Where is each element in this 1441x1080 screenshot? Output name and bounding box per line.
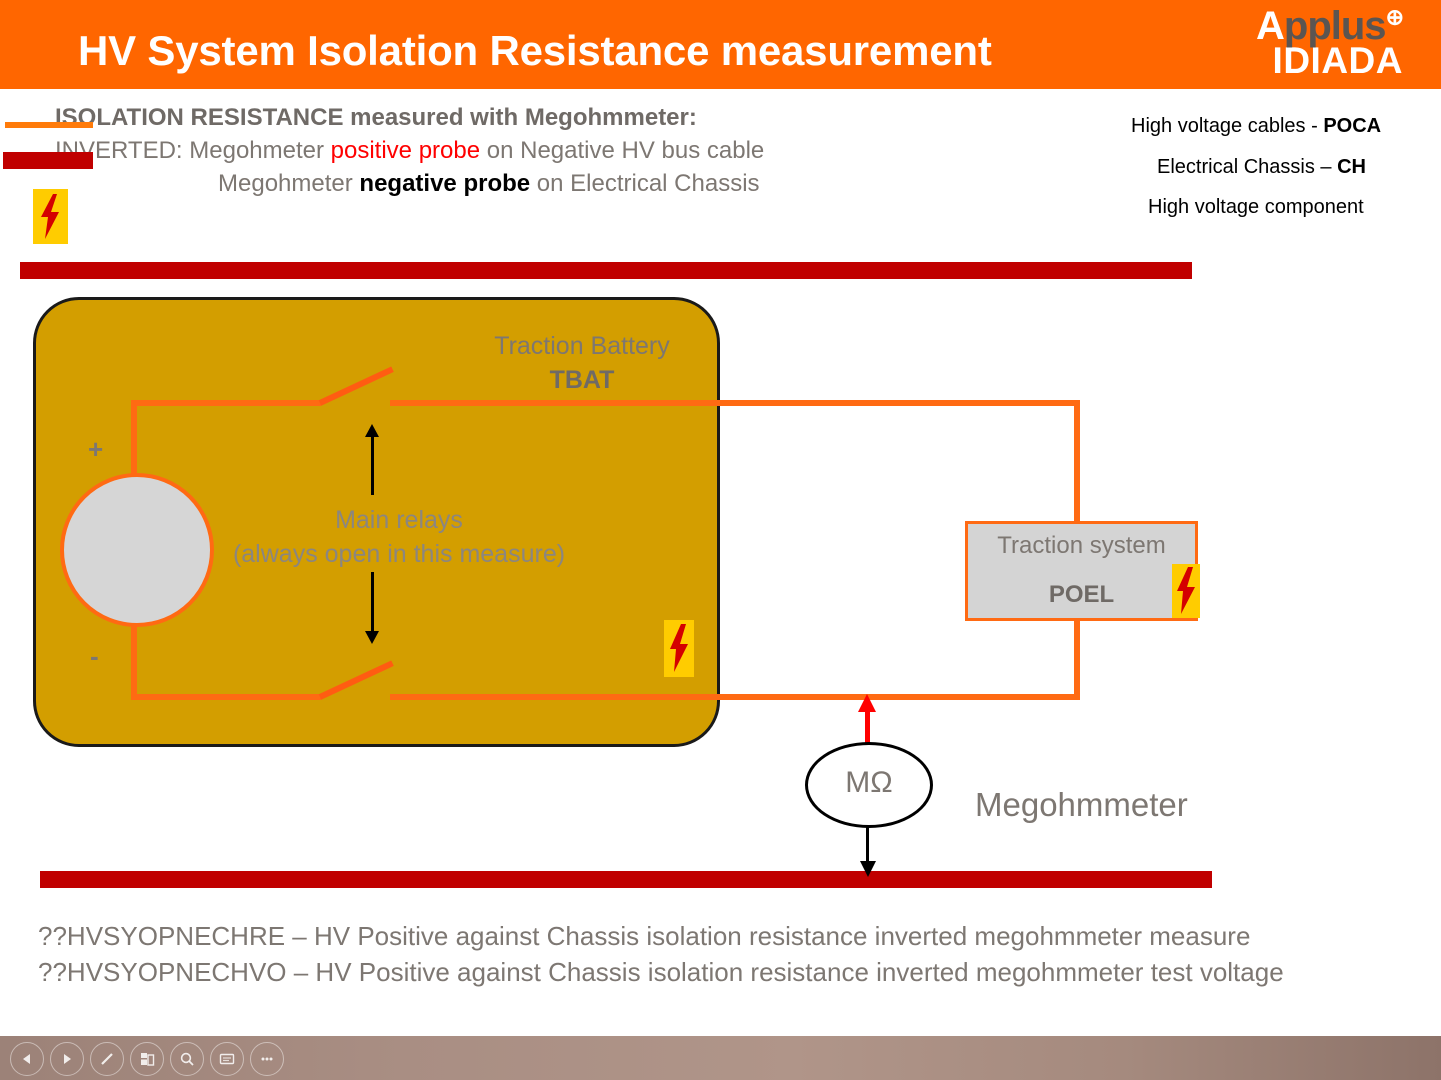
legend-high-voltage-icon (33, 189, 68, 244)
logo-plus-icon: ⊕ (1386, 5, 1403, 30)
legend-label-hv-cable-code: POCA (1323, 115, 1381, 137)
chassis-bar-bottom (40, 871, 1212, 888)
wire-positive-top-horizontal (131, 400, 321, 406)
wire-positive-out-horizontal (390, 400, 1080, 406)
logo-letter-a: A (1256, 4, 1284, 48)
legend-label-hv-cable: High voltage cables - POCA (1131, 115, 1381, 138)
battery-cell-circle (60, 473, 214, 627)
footnote-line-2: ??HVSYOPNECHVO – HV Positive against Cha… (38, 954, 1418, 990)
triangle-left-icon (20, 1052, 34, 1066)
chassis-bar-top (20, 262, 1192, 279)
legend-label-hv-cable-text: High voltage cables - (1131, 115, 1323, 137)
relay-arrow-down-head (365, 631, 379, 644)
logo-applus-text: Applus⊕ (1256, 6, 1403, 46)
intro-line-2-highlight: positive probe (331, 137, 480, 164)
wire-negative-bottom-horizontal (131, 694, 321, 700)
main-relays-label: Main relays (always open in this measure… (232, 503, 566, 571)
intro-line-3: Megohmeter negative probe on Electrical … (55, 167, 955, 200)
intro-line-2: INVERTED: Megohmeter positive probe on N… (55, 134, 955, 167)
pen-icon (99, 1051, 115, 1067)
page-title: HV System Isolation Resistance measureme… (78, 27, 992, 75)
applus-idiada-logo: Applus⊕ IDIADA (1228, 6, 1403, 84)
traction-battery-code: TBAT (482, 366, 682, 395)
megohmmeter-positive-probe-shaft (865, 710, 870, 745)
megohmmeter-label: Megohmmeter (975, 786, 1188, 824)
traction-system-high-voltage-icon (1172, 564, 1200, 618)
intro-line-3-post: on Electrical Chassis (530, 170, 759, 197)
footnote-line-1: ??HVSYOPNECHRE – HV Positive against Cha… (38, 918, 1418, 954)
traction-battery-title: Traction Battery (482, 332, 682, 361)
legend-swatch-hv-cable (5, 122, 93, 128)
legend-label-chassis-text: Electrical Chassis – (1157, 156, 1337, 178)
battery-negative-terminal-label: - (90, 641, 99, 672)
legend-label-chassis: Electrical Chassis – CH (1157, 156, 1366, 179)
wire-negative-vertical (131, 625, 137, 697)
logo-text-rest: pplus (1284, 4, 1386, 48)
slides-icon (139, 1051, 155, 1067)
battery-high-voltage-icon (664, 620, 694, 677)
relay-arrow-up-shaft (371, 433, 374, 495)
intro-line-1: ISOLATION RESISTANCE measured with Megoh… (55, 101, 955, 134)
megohmmeter-positive-probe-head (858, 694, 876, 712)
main-relays-label-line2: (always open in this measure) (232, 537, 566, 571)
slides-overview-button[interactable] (130, 1042, 164, 1076)
ellipsis-icon (259, 1051, 275, 1067)
megohmmeter-symbol: MΩ (805, 766, 933, 800)
wire-hv-right-vertical-top (1074, 400, 1080, 528)
legend-swatch-chassis (3, 152, 93, 169)
main-relays-label-line1: Main relays (232, 503, 566, 537)
more-options-button[interactable] (250, 1042, 284, 1076)
legend-label-chassis-code: CH (1337, 156, 1366, 178)
triangle-right-icon (60, 1052, 74, 1066)
wire-hv-right-vertical-bottom (1074, 614, 1080, 700)
toolbar-button-group[interactable] (10, 1042, 284, 1076)
relay-arrow-up-head (365, 424, 379, 437)
traction-system-code: POEL (965, 581, 1198, 609)
previous-slide-button[interactable] (10, 1042, 44, 1076)
pen-button[interactable] (90, 1042, 124, 1076)
intro-text-block: ISOLATION RESISTANCE measured with Megoh… (55, 101, 955, 200)
search-icon (179, 1051, 195, 1067)
legend-label-hv-component: High voltage component (1148, 196, 1364, 219)
megohmmeter-negative-probe-head (860, 861, 876, 877)
footnotes-block: ??HVSYOPNECHRE – HV Positive against Cha… (38, 918, 1418, 990)
traction-system-title: Traction system (965, 532, 1198, 560)
wire-negative-out-horizontal (390, 694, 1080, 700)
relay-arrow-down-shaft (371, 572, 374, 634)
intro-line-3-pre: Megohmeter (218, 170, 359, 197)
intro-line-2-pre: INVERTED: Megohmeter (55, 137, 331, 164)
intro-line-2-post: on Negative HV bus cable (480, 137, 764, 164)
zoom-button[interactable] (170, 1042, 204, 1076)
notes-icon (219, 1051, 235, 1067)
megohmmeter-negative-probe-shaft (866, 826, 869, 866)
notes-button[interactable] (210, 1042, 244, 1076)
battery-positive-terminal-label: + (88, 434, 103, 465)
wire-positive-vertical (131, 400, 137, 475)
intro-line-3-highlight: negative probe (359, 170, 530, 197)
next-slide-button[interactable] (50, 1042, 84, 1076)
